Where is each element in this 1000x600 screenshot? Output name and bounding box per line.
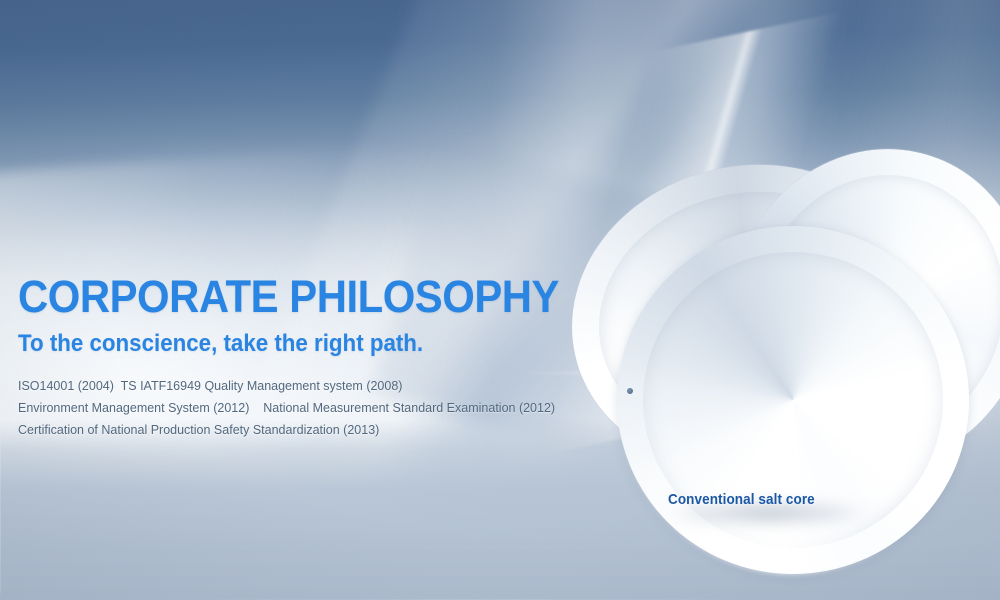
certification-line: Certification of National Production Saf… <box>18 419 678 441</box>
product-caption: Conventional salt core <box>668 491 815 508</box>
certification-line: ISO14001 (2004) TS IATF16949 Quality Man… <box>18 375 678 397</box>
salt-core-rings-photo <box>565 140 985 520</box>
page-subtitle: To the conscience, take the right path. <box>18 332 423 356</box>
page-title: CORPORATE PHILOSOPHY <box>18 274 559 319</box>
corporate-philosophy-banner: CORPORATE PHILOSOPHY To the conscience, … <box>0 0 1000 600</box>
certification-line: Environment Management System (2012) Nat… <box>18 397 678 419</box>
certifications-list: ISO14001 (2004) TS IATF16949 Quality Man… <box>18 375 678 441</box>
